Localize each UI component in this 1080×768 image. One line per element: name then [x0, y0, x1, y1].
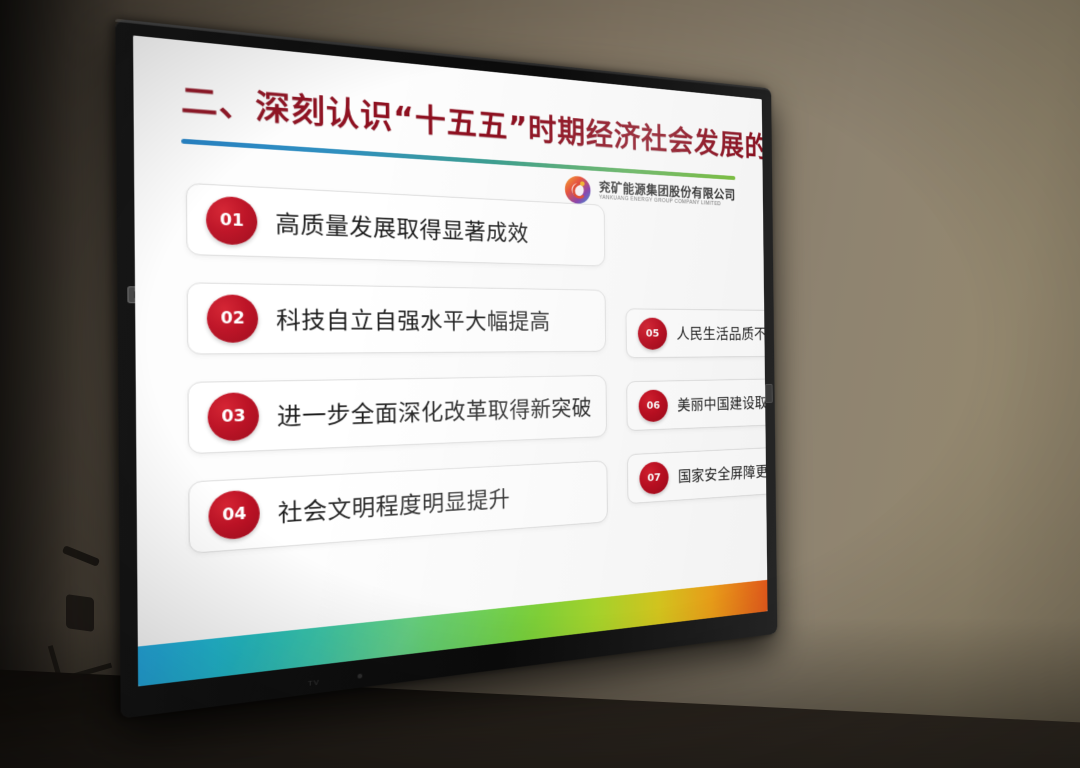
tv-brand-logo: TV	[308, 678, 320, 688]
goal-card-04[interactable]: 04 社会文明程度明显提升	[188, 460, 608, 554]
goal-number-badge: 03	[207, 392, 259, 442]
goal-label: 高质量发展取得显著成效	[275, 205, 529, 248]
goal-label: 美丽中国建设取得新的重大进展	[677, 390, 767, 415]
goal-card-01[interactable]: 01 高质量发展取得显著成效	[186, 183, 605, 267]
goal-label: 社会文明程度明显提升	[278, 482, 511, 529]
goal-label: 人民生活品质不断提高	[676, 323, 767, 344]
television: TV 二、深刻认识“十五五”时期经济社会发展的主要目标	[115, 19, 777, 719]
goal-number-badge: 07	[639, 461, 668, 495]
goal-number-badge: 01	[206, 195, 258, 245]
goals-column-left: 01 高质量发展取得显著成效 02 科技自立自强水平大幅提高 03 进一步全面深…	[186, 177, 609, 641]
power-led-icon	[358, 674, 363, 679]
display-stage: TV 二、深刻认识“十五五”时期经济社会发展的主要目标	[0, 0, 1080, 768]
sensor-port-icon	[765, 384, 773, 403]
goal-card-07[interactable]: 07 国家安全屏障更加巩固	[627, 443, 767, 504]
company-emblem-icon	[563, 174, 592, 206]
goal-number-badge: 05	[638, 317, 667, 349]
slide-body: 01 高质量发展取得显著成效 02 科技自立自强水平大幅提高 03 进一步全面深…	[134, 140, 767, 646]
tv-bezel: TV 二、深刻认识“十五五”时期经济社会发展的主要目标	[115, 19, 777, 719]
goal-card-05[interactable]: 05 人民生活品质不断提高	[626, 308, 768, 358]
goal-label: 科技自立自强水平大幅提高	[276, 302, 551, 336]
goal-label: 进一步全面深化改革取得新突破	[277, 391, 592, 432]
goal-number-badge: 04	[208, 489, 260, 540]
company-name-block: 兖矿能源集团股份有限公司 YANKUANG ENERGY GROUP COMPA…	[599, 181, 736, 209]
goal-card-03[interactable]: 03 进一步全面深化改革取得新突破	[187, 375, 607, 454]
goal-number-badge: 02	[207, 294, 259, 342]
tv-screen: 二、深刻认识“十五五”时期经济社会发展的主要目标	[133, 35, 768, 686]
goal-label: 国家安全屏障更加巩固	[678, 459, 768, 487]
presentation-slide: 二、深刻认识“十五五”时期经济社会发展的主要目标	[133, 35, 768, 686]
goal-number-badge: 06	[639, 389, 668, 422]
goal-card-06[interactable]: 06 美丽中国建设取得新的重大进展	[626, 377, 767, 431]
goal-card-02[interactable]: 02 科技自立自强水平大幅提高	[187, 282, 606, 354]
goals-column-right: 05 人民生活品质不断提高 06 美丽中国建设取得新的重大进展 07 国家安全屏…	[624, 201, 767, 595]
